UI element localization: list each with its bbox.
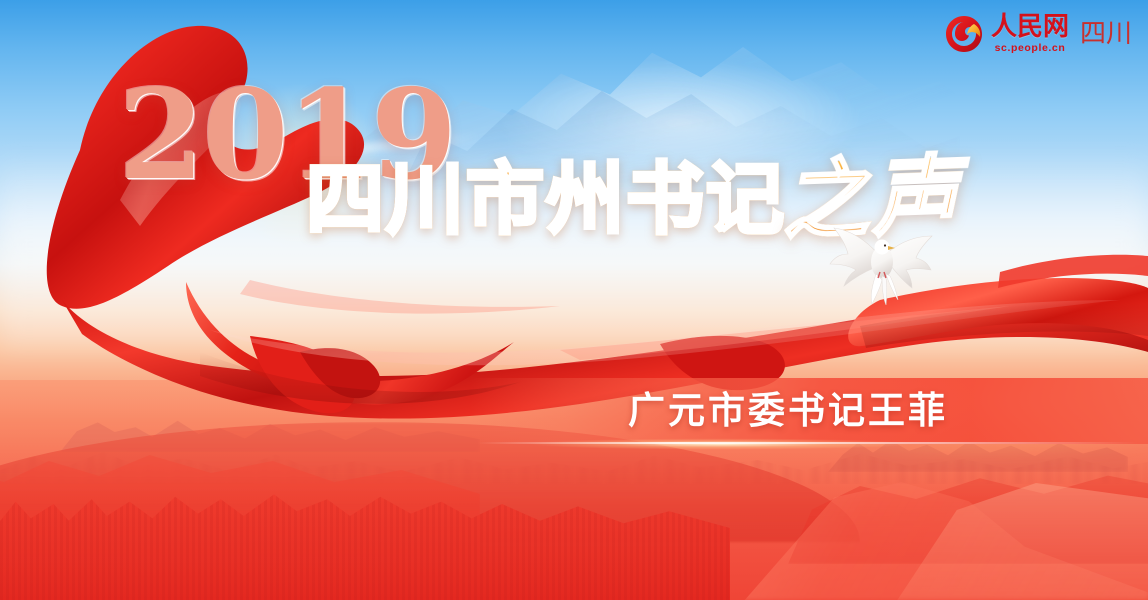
people-cn-swirl-icon (944, 14, 984, 54)
site-logo[interactable]: 人民网 sc.people.cn 四川 (944, 14, 1132, 54)
white-dove-icon (828, 214, 936, 306)
logo-province-label: 四川 (1080, 21, 1132, 47)
logo-url-label: sc.people.cn (995, 43, 1066, 54)
promo-banner: 2019 (0, 0, 1148, 600)
title-block-text: 四川市州书记 (306, 163, 786, 237)
logo-text-group: 人民网 sc.people.cn (991, 14, 1069, 54)
logo-brand-label: 人民网 (991, 14, 1069, 40)
subtitle-label: 广元市委书记王菲 (628, 388, 948, 434)
